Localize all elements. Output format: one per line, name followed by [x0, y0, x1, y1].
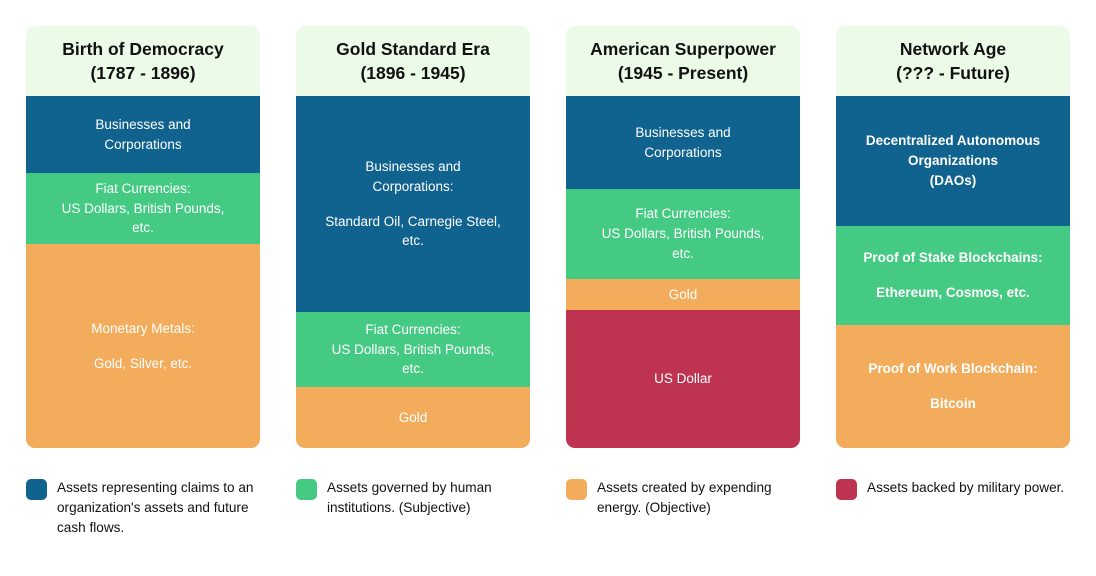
legend-military-power: Assets backed by military power. [836, 478, 1070, 558]
segment-businesses-and-corporations: Businesses andCorporations [26, 96, 260, 173]
legend-label: Assets backed by military power. [867, 478, 1064, 498]
segment-label: Businesses and [95, 115, 190, 135]
segment-label: Gold [399, 408, 428, 428]
segment-monetary-metals: Monetary Metals:Gold, Silver, etc. [26, 244, 260, 448]
segment-label: US Dollars, British Pounds, [602, 224, 765, 244]
segment-label: Gold [669, 285, 698, 305]
legend-label: Assets governed by human institutions. (… [327, 478, 530, 518]
era-header-birth-of-democracy: Birth of Democracy(1787 - 1896) [26, 26, 260, 96]
segment-label: Businesses and [365, 157, 460, 177]
segment-label: US Dollars, British Pounds, [62, 199, 225, 219]
segment-label: Businesses and [635, 123, 730, 143]
legend-expending-energy: Assets created by expending energy. (Obj… [566, 478, 800, 558]
era-title-line2: (1945 - Present) [618, 61, 748, 85]
segment-label: (DAOs) [930, 171, 977, 191]
segment-label: Monetary Metals: [91, 319, 195, 339]
segment-label: Corporations: [372, 177, 453, 197]
legend-label: Assets representing claims to an organiz… [57, 478, 260, 538]
segment-decentralized-autonomous-organizations: Decentralized AutonomousOrganizations(DA… [836, 96, 1070, 226]
era-title-line1: Birth of Democracy [62, 37, 223, 61]
segment-label: Decentralized Autonomous [866, 131, 1040, 151]
legend-human-institutions: Assets governed by human institutions. (… [296, 478, 530, 558]
segment-businesses-and-corporations: Businesses andCorporations:Standard Oil,… [296, 96, 530, 312]
era-header-gold-standard-era: Gold Standard Era(1896 - 1945) [296, 26, 530, 96]
legend-swatch-blue [26, 479, 47, 500]
era-column-network-age: Network Age(??? - Future)Decentralized A… [836, 26, 1070, 448]
segment-label: etc. [402, 231, 424, 251]
era-header-american-superpower: American Superpower(1945 - Present) [566, 26, 800, 96]
segment-us-dollar: US Dollar [566, 310, 800, 448]
segment-label: Proof of Stake Blockchains: [863, 248, 1042, 268]
era-title-line1: American Superpower [590, 37, 776, 61]
era-column-birth-of-democracy: Birth of Democracy(1787 - 1896)Businesse… [26, 26, 260, 448]
legend-swatch-crimson [836, 479, 857, 500]
segment-label: Ethereum, Cosmos, etc. [876, 283, 1030, 303]
legend-swatch-green [296, 479, 317, 500]
era-columns: Birth of Democracy(1787 - 1896)Businesse… [26, 26, 1070, 448]
era-title-line1: Network Age [900, 37, 1006, 61]
segment-label: etc. [402, 359, 424, 379]
segment-label: Bitcoin [930, 394, 976, 414]
segment-label: etc. [132, 218, 154, 238]
legend-swatch-orange [566, 479, 587, 500]
era-title-line2: (??? - Future) [896, 61, 1010, 85]
segment-businesses-and-corporations: Businesses andCorporations [566, 96, 800, 189]
era-title-line1: Gold Standard Era [336, 37, 490, 61]
segment-gold: Gold [296, 387, 530, 448]
era-column-american-superpower: American Superpower(1945 - Present)Busin… [566, 26, 800, 448]
segment-label: Fiat Currencies: [365, 320, 460, 340]
infographic-root: Birth of Democracy(1787 - 1896)Businesse… [0, 0, 1096, 576]
era-header-network-age: Network Age(??? - Future) [836, 26, 1070, 96]
segment-label: US Dollars, British Pounds, [332, 340, 495, 360]
segment-label: Corporations [104, 135, 181, 155]
legend-claims-to-organization: Assets representing claims to an organiz… [26, 478, 260, 558]
segment-proof-of-stake-blockchains: Proof of Stake Blockchains:Ethereum, Cos… [836, 226, 1070, 325]
segment-gold: Gold [566, 279, 800, 310]
segment-fiat-currencies: Fiat Currencies:US Dollars, British Poun… [26, 173, 260, 244]
segment-fiat-currencies: Fiat Currencies:US Dollars, British Poun… [296, 312, 530, 387]
segment-label: Standard Oil, Carnegie Steel, [325, 212, 501, 232]
segment-label: Fiat Currencies: [95, 179, 190, 199]
segment-label: Gold, Silver, etc. [94, 354, 192, 374]
segment-fiat-currencies: Fiat Currencies:US Dollars, British Poun… [566, 189, 800, 279]
segment-label: Proof of Work Blockchain: [868, 359, 1037, 379]
legend: Assets representing claims to an organiz… [26, 478, 1070, 558]
segment-label: US Dollar [654, 369, 712, 389]
segment-label: Fiat Currencies: [635, 204, 730, 224]
era-title-line2: (1787 - 1896) [90, 61, 195, 85]
segment-label: Organizations [908, 151, 998, 171]
segment-proof-of-work-blockchain: Proof of Work Blockchain:Bitcoin [836, 325, 1070, 448]
segment-label: etc. [672, 244, 694, 264]
era-title-line2: (1896 - 1945) [360, 61, 465, 85]
legend-label: Assets created by expending energy. (Obj… [597, 478, 800, 518]
era-column-gold-standard-era: Gold Standard Era(1896 - 1945)Businesses… [296, 26, 530, 448]
segment-label: Corporations [644, 143, 721, 163]
